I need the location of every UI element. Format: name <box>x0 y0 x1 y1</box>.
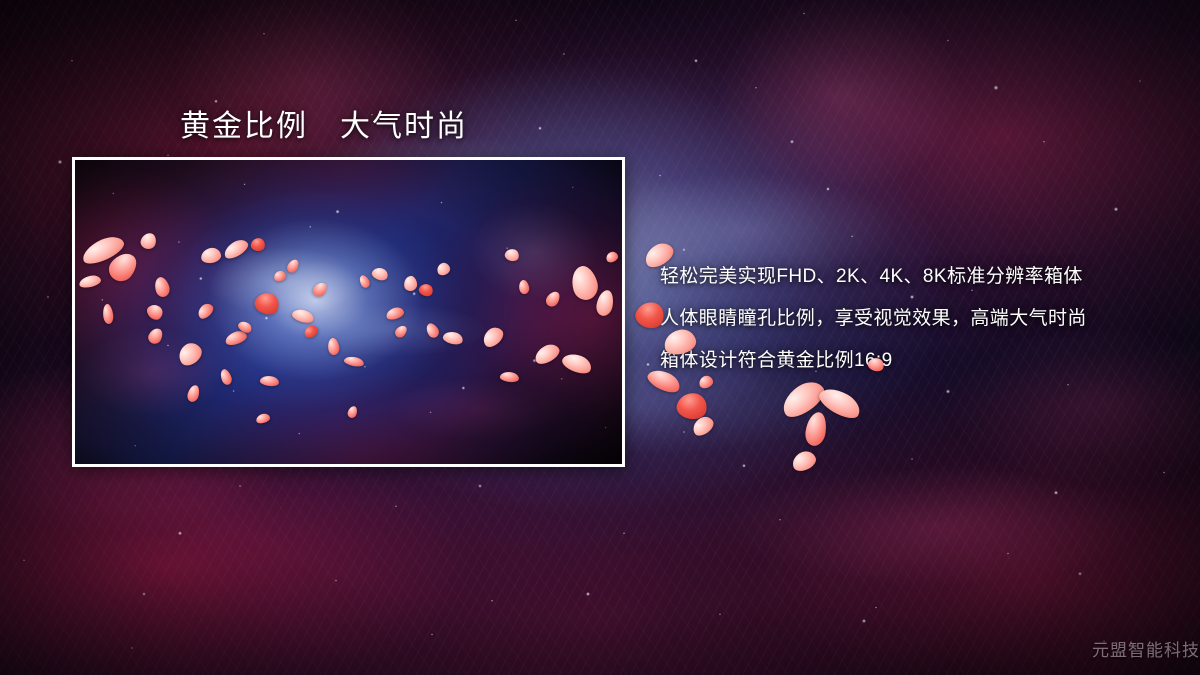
framed-image-scene <box>75 160 622 464</box>
framed-image-vignette <box>75 160 622 464</box>
petal-shape <box>790 448 819 474</box>
watermark: 元盟智能科技 <box>1092 636 1200 661</box>
presentation-slide: 黄金比例 大气时尚 <box>0 0 1200 675</box>
framed-image <box>72 157 625 467</box>
slide-title: 黄金比例 大气时尚 <box>180 101 468 145</box>
body-line: 人体眼睛瞳孔比例，享受视觉效果，高端大气时尚 <box>660 298 1180 340</box>
petal-shape <box>675 390 710 422</box>
body-line: 轻松完美实现FHD、2K、4K、8K标准分辨率箱体 <box>660 256 1180 298</box>
petal-shape <box>777 375 830 422</box>
petal-shape <box>689 413 716 439</box>
body-text-block: 轻松完美实现FHD、2K、4K、8K标准分辨率箱体 人体眼睛瞳孔比例，享受视觉效… <box>660 256 1180 382</box>
body-line: 箱体设计符合黄金比例16:9 <box>660 340 1180 382</box>
petal-shape <box>804 411 829 447</box>
petal-shape <box>815 382 864 423</box>
